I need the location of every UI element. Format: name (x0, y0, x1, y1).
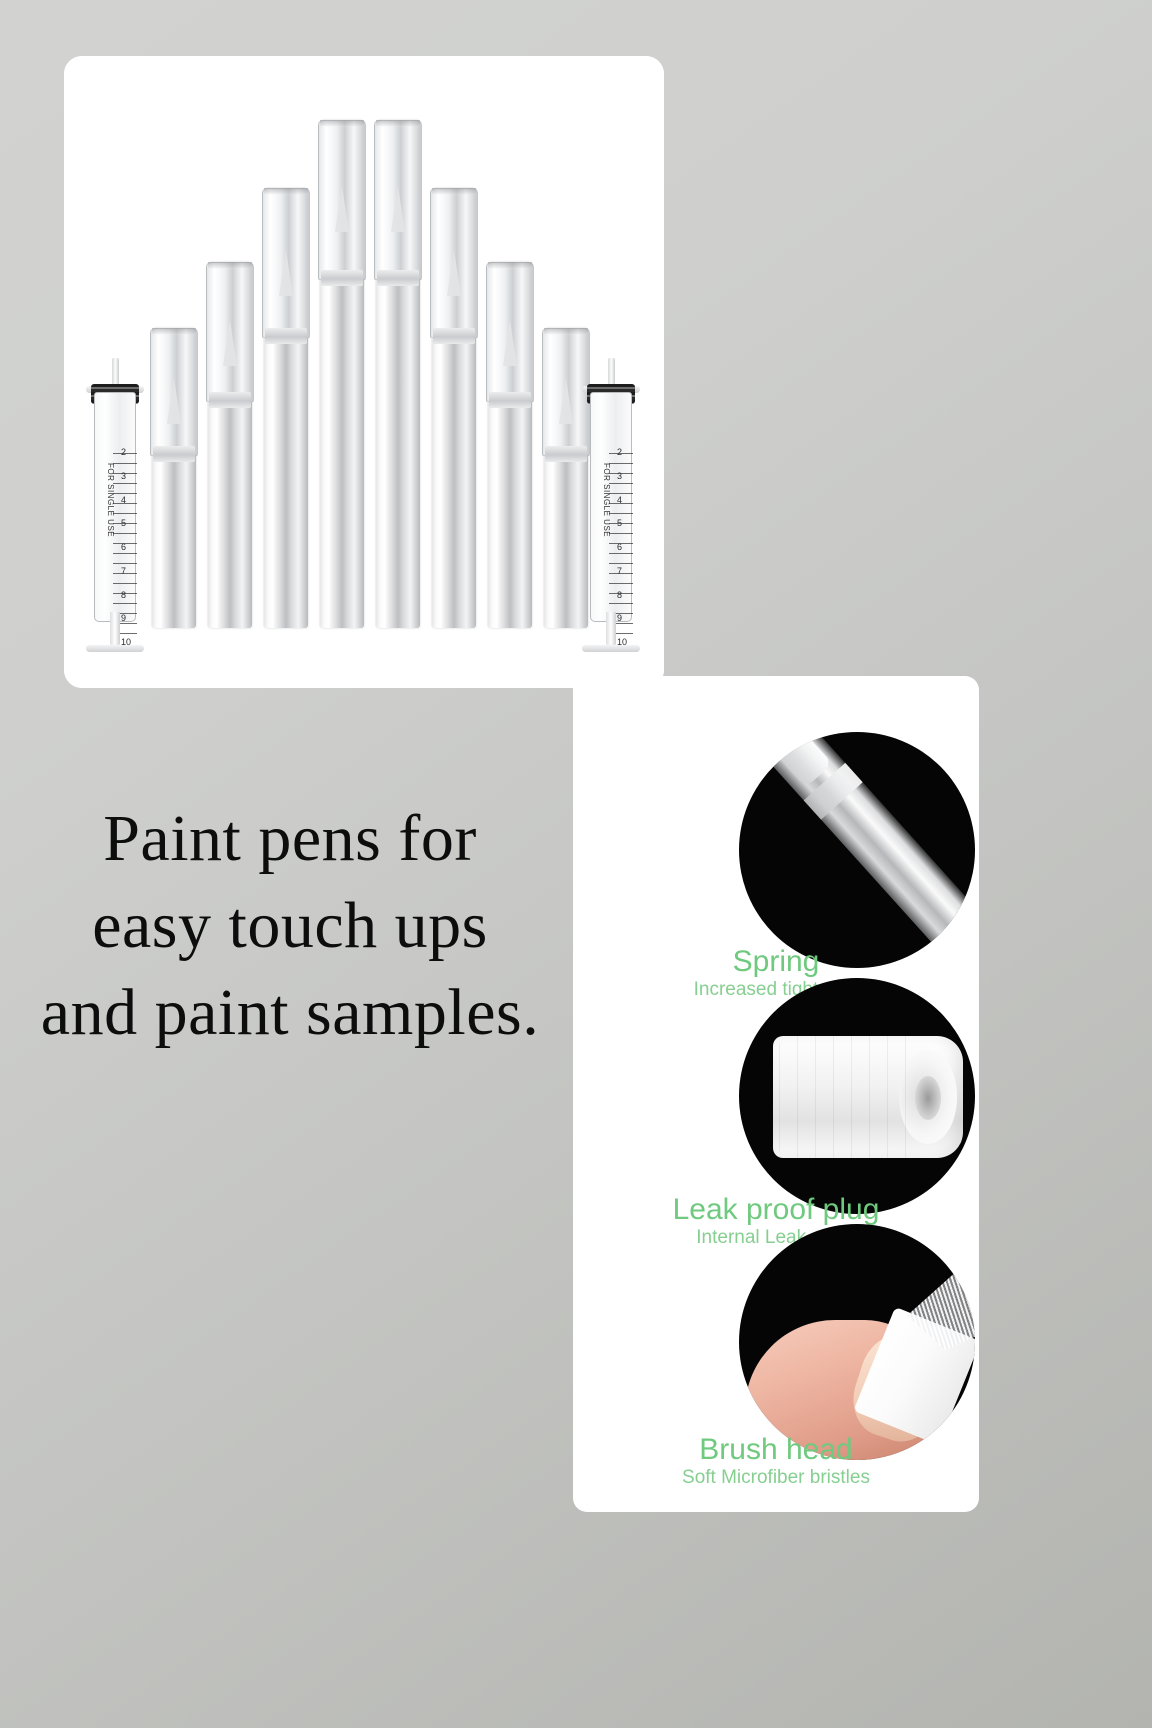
brush-head-label-group: Brush head Soft Microfiber bristles (573, 1434, 979, 1489)
syringe-single-use-label: FOR SINGLE USE (106, 463, 115, 537)
pen-tip-spring-photo (746, 732, 975, 959)
spring-photo-circle (739, 732, 975, 968)
syringe-left: 2 3 4 5 6 7 8 9 10 FOR SINGLE USE (86, 352, 144, 652)
pen-tip (279, 250, 293, 296)
pen-tip (223, 320, 237, 366)
pen-tip (391, 186, 405, 232)
pen-tip (167, 378, 181, 424)
product-photo-card: 2 3 4 5 6 7 8 9 10 FOR SINGLE USE (64, 56, 664, 688)
pen-collar (321, 270, 363, 286)
syringe-tick-label: 6 (617, 542, 627, 552)
pen-tip (447, 250, 461, 296)
pen-tip (503, 320, 517, 366)
feature-title: Leak proof plug (573, 1194, 979, 1226)
syringe-bottom-flange (86, 645, 144, 652)
syringe-scale-numbers: 2 3 4 5 6 7 8 9 10 (121, 447, 131, 647)
syringe-tick-label: 4 (121, 495, 131, 505)
pen-collar (377, 270, 419, 286)
syringe-bottom-flange (582, 645, 640, 652)
feature-item-spring: Spring Increased tightness (573, 732, 979, 1010)
leak-proof-plug-photo-circle (739, 978, 975, 1214)
syringe-tick-label: 3 (121, 471, 131, 481)
syringe-tick-label: 9 (617, 613, 627, 623)
syringe-barrel: 2 3 4 5 6 7 8 9 10 FOR SINGLE USE (590, 392, 632, 622)
pen-collar (433, 328, 475, 344)
syringe-right: 2 3 4 5 6 7 8 9 10 FOR SINGLE USE (582, 352, 640, 652)
pen-collar (489, 392, 531, 408)
syringe-barrel: 2 3 4 5 6 7 8 9 10 FOR SINGLE USE (94, 392, 136, 622)
syringe-tick-label: 2 (121, 447, 131, 457)
pen-collar (153, 446, 195, 462)
syringe-single-use-label: FOR SINGLE USE (602, 463, 611, 537)
syringe-tick-label: 8 (617, 590, 627, 600)
paint-pen (376, 120, 420, 628)
syringe-tick-label: 5 (617, 518, 627, 528)
syringe-tick-label: 5 (121, 518, 131, 528)
pen-tip (335, 186, 349, 232)
syringe-nozzle (110, 612, 120, 646)
syringe-tick-label: 3 (617, 471, 627, 481)
syringe-tick-label: 2 (617, 447, 627, 457)
feature-item-brush-head: Brush head Soft Microfiber bristles (573, 1224, 979, 1502)
plug-ridges (779, 1036, 919, 1158)
syringe-tick-label: 7 (617, 566, 627, 576)
paint-pen (208, 262, 252, 628)
paint-pen (432, 188, 476, 628)
feature-highlights-card: Spring Increased tightness Leak proof pl… (573, 676, 979, 1512)
paint-pen (488, 262, 532, 628)
pen-tip (559, 378, 573, 424)
syringe-tick-label: 6 (121, 542, 131, 552)
feature-item-leak-proof-plug: Leak proof plug Internal Leak-proof (573, 978, 979, 1256)
syringe-tick-label: 9 (121, 613, 131, 623)
syringe-tick-label: 4 (617, 495, 627, 505)
paint-pen (320, 120, 364, 628)
paint-pen (152, 328, 196, 628)
product-photo-stage: 2 3 4 5 6 7 8 9 10 FOR SINGLE USE (64, 56, 664, 688)
syringe-nozzle (606, 612, 616, 646)
syringe-scale-numbers: 2 3 4 5 6 7 8 9 10 (617, 447, 627, 647)
feature-title: Spring (573, 946, 979, 978)
pen-collar (545, 446, 587, 462)
paint-pen (264, 188, 308, 628)
page-headline: Paint pens for easy touch ups and paint … (40, 795, 540, 1056)
syringe-tick-label: 8 (121, 590, 131, 600)
syringe-tick-label: 7 (121, 566, 131, 576)
pen-collar (209, 392, 251, 408)
pen-collar (265, 328, 307, 344)
brush-head-photo-circle (739, 1224, 975, 1460)
feature-subtitle: Soft Microfiber bristles (573, 1467, 979, 1490)
feature-title: Brush head (573, 1434, 979, 1466)
leak-proof-plug-photo (773, 1036, 963, 1158)
